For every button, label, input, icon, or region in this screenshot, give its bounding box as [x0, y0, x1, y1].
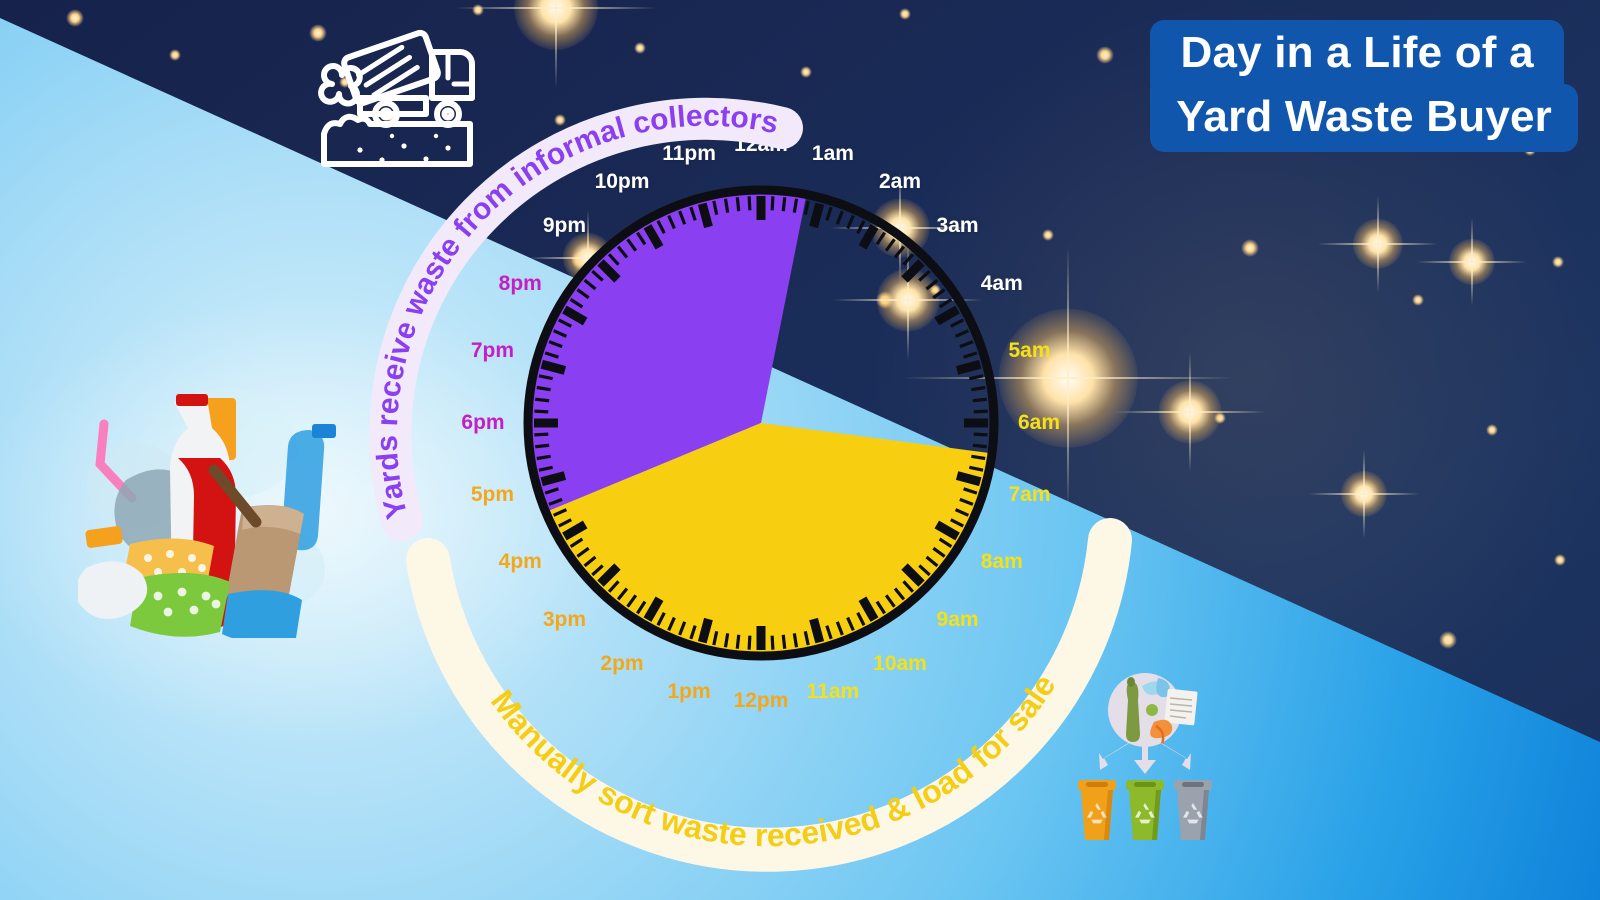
- clock-tick-minor: [956, 331, 969, 337]
- clock-tick-major: [905, 262, 922, 279]
- clock-hour-label-5am: 5am: [1009, 339, 1051, 363]
- plastic-waste-pile-illustration: [78, 372, 350, 643]
- clock-tick-minor: [895, 247, 904, 258]
- clock-hour-label-6am: 6am: [1018, 411, 1060, 435]
- clock-tick-minor: [974, 434, 988, 435]
- clock-tick-minor: [927, 280, 938, 289]
- clock-tick-minor: [951, 320, 963, 326]
- banner-manually-sort-waste: Manually sort waste received & load for …: [398, 448, 1138, 873]
- banner-yellow-ribbon: [428, 540, 1110, 850]
- clock-tick-minor: [940, 299, 952, 307]
- page-title: Day in a Life of a Yard Waste Buyer: [1150, 20, 1578, 152]
- clock-tick-minor: [973, 399, 987, 400]
- clock-tick-minor: [904, 254, 913, 264]
- title-line-2: Yard Waste Buyer: [1150, 84, 1578, 152]
- banner-yellow-text: Manually sort waste received & load for …: [484, 668, 1063, 853]
- clock-tick-minor: [971, 387, 985, 389]
- clock-tick-major: [937, 310, 958, 322]
- clock-tick-minor: [973, 445, 987, 446]
- clock-hour-label-4am: 4am: [981, 272, 1023, 296]
- infographic-canvas: Day in a Life of a Yard Waste Buyer: [0, 0, 1600, 900]
- clock-tick-minor: [969, 376, 983, 379]
- clock-tick-minor: [919, 271, 929, 280]
- clock-hour-label-3am: 3am: [937, 214, 979, 238]
- clock-tick-major: [863, 226, 875, 247]
- clock-tick-minor: [877, 233, 885, 245]
- clock-tick-minor: [960, 342, 973, 347]
- clock-tick-minor: [858, 221, 864, 233]
- clock-hour-label-2am: 2am: [879, 170, 921, 194]
- title-line-1: Day in a Life of a: [1150, 20, 1564, 88]
- clock-tick-major: [957, 364, 980, 370]
- clock-tick-minor: [974, 411, 988, 412]
- clock-tick-minor: [886, 239, 894, 250]
- clock-tick-minor: [964, 353, 977, 357]
- clock-tick-minor: [933, 290, 944, 298]
